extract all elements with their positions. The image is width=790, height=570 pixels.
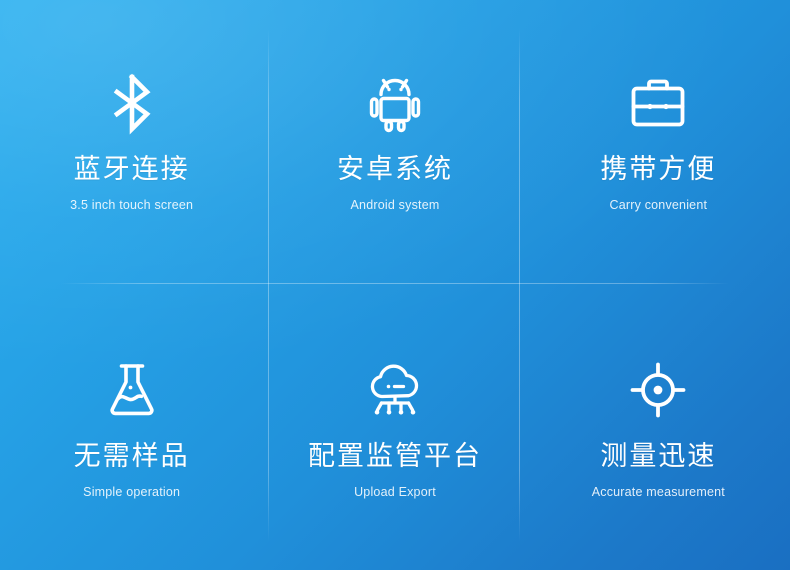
feature-grid: 蓝牙连接 3.5 inch touch screen [0,0,790,570]
feature-title: 无需样品 [74,443,190,470]
feature-caption: Accurate measurement [592,486,725,499]
feature-title: 携带方便 [600,156,716,183]
cloud-network-icon [364,359,426,421]
feature-title: 安卓系统 [337,156,453,183]
feature-title: 配置监管平台 [308,443,482,470]
feature-caption: 3.5 inch touch screen [70,199,193,212]
feature-cell-cloud-platform: 配置监管平台 Upload Export [263,285,526,570]
feature-cell-portable: 携带方便 Carry convenient [527,0,790,285]
feature-cell-bluetooth: 蓝牙连接 3.5 inch touch screen [0,0,263,285]
android-robot-icon [366,72,424,134]
feature-caption: Android system [351,199,440,212]
bluetooth-icon [110,72,154,134]
feature-caption: Carry convenient [609,199,707,212]
feature-caption: Upload Export [354,486,436,499]
feature-cell-no-sample: 无需样品 Simple operation [0,285,263,570]
feature-cell-android: 安卓系统 Android system [263,0,526,285]
feature-caption: Simple operation [83,486,180,499]
feature-cell-fast-measure: 测量迅速 Accurate measurement [527,285,790,570]
flask-icon [106,359,158,421]
feature-title: 测量迅速 [600,443,716,470]
feature-banner: 蓝牙连接 3.5 inch touch screen [0,0,790,570]
briefcase-icon [629,72,687,134]
feature-title: 蓝牙连接 [74,156,190,183]
crosshair-target-icon [630,359,686,421]
